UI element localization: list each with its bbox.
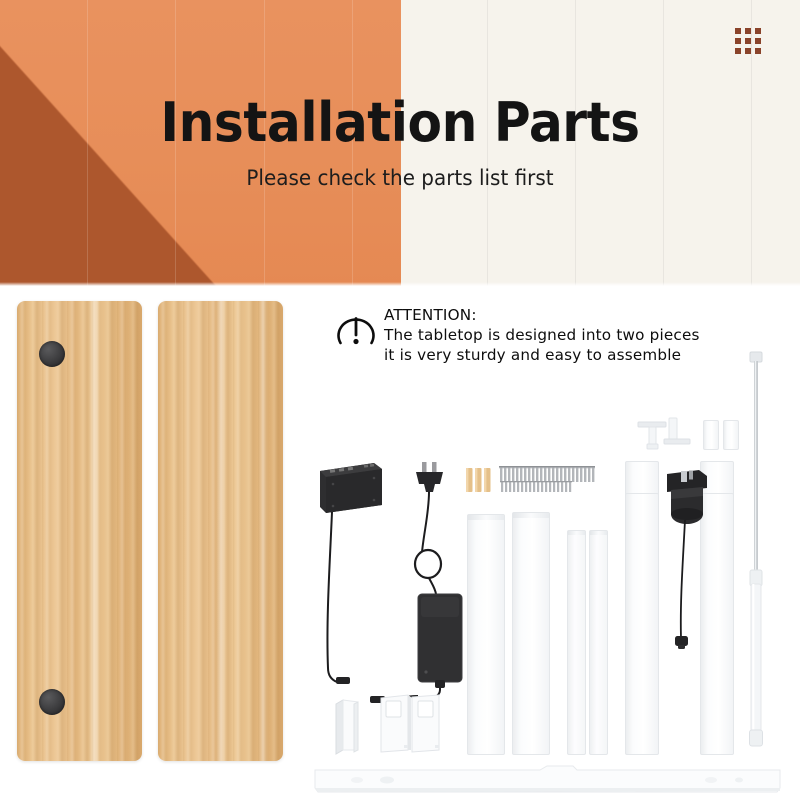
narrow-support-beam-2: [589, 530, 608, 755]
installation-parts-page: Installation Parts Please check the part…: [0, 0, 800, 800]
page-title: Installation Parts: [28, 96, 772, 150]
header-banner: Installation Parts Please check the part…: [0, 0, 800, 286]
grommet-hole-top: [39, 341, 65, 367]
tabletop-panel-right: [158, 301, 283, 761]
grid-3x3-icon: [735, 28, 765, 58]
page-subtitle: Please check the parts list first: [20, 168, 780, 189]
narrow-support-beam-1: [567, 530, 586, 755]
t-brackets: [638, 418, 700, 462]
wooden-dowels: [466, 468, 496, 492]
tabletop-panel-left: [17, 301, 142, 761]
exclamation-circle-icon: [336, 310, 376, 352]
wide-support-beam-2: [512, 512, 550, 755]
control-box-cable: [316, 510, 386, 700]
telescoping-crossbar: [745, 352, 767, 752]
corner-bracket-single: [334, 700, 360, 754]
mounting-plate-2: [723, 420, 739, 450]
wide-support-beam-1: [467, 514, 505, 755]
power-adapter: [402, 460, 472, 700]
control-box: [316, 461, 386, 517]
base-foot-beam: [315, 766, 780, 796]
motor-unit: [665, 468, 709, 526]
attention-heading: ATTENTION:: [384, 306, 756, 326]
banner-bottom-fade: [0, 282, 800, 286]
mounting-plate-1: [703, 420, 719, 450]
attention-line-1: The tabletop is designed into two pieces: [384, 326, 756, 346]
attention-line-2: it is very sturdy and easy to assemble: [384, 346, 756, 366]
motor-cable: [669, 520, 705, 660]
lifting-column-left: [625, 461, 657, 753]
grommet-hole-bottom: [39, 689, 65, 715]
corner-bracket-pair: [380, 694, 442, 754]
attention-text-block: ATTENTION: The tabletop is designed into…: [384, 306, 756, 365]
screws-short-row: [500, 481, 572, 493]
